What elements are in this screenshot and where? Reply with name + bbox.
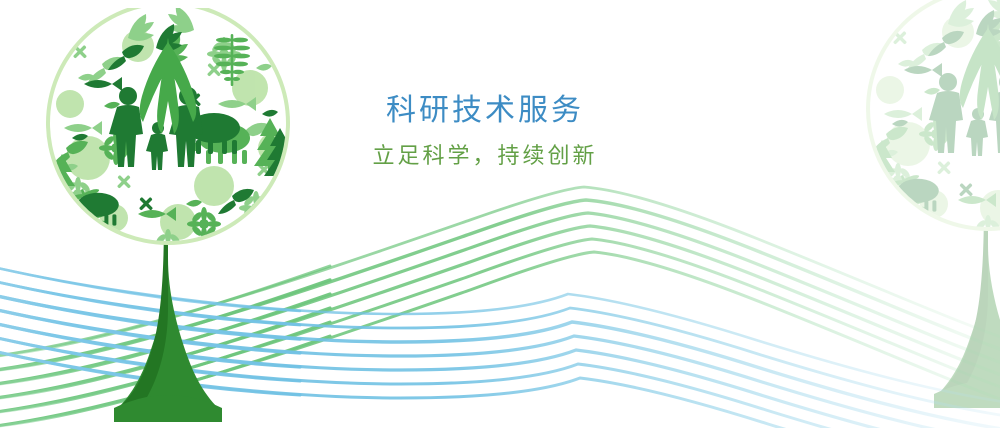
page-subtitle: 立足科学，持续创新 — [330, 142, 640, 171]
tree-left-layer — [0, 0, 1000, 428]
headline-block: 科研技术服务 立足科学，持续创新 — [330, 92, 640, 171]
biodiversity-tree — [46, 1, 296, 422]
page-title: 科研技术服务 — [330, 92, 640, 130]
banner-hero: 科研技术服务 立足科学，持续创新 — [0, 0, 1000, 428]
